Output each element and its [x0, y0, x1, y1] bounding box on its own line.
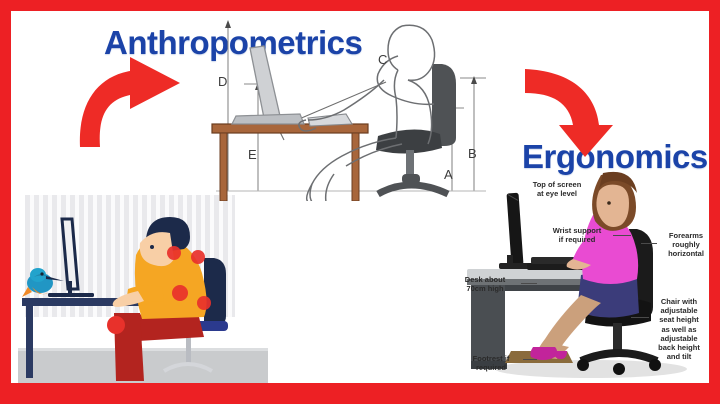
kingfisher-bird-icon: [22, 268, 64, 297]
illustration-ergonomic-workstation: Top of screen at eye level Wrist support…: [441, 171, 709, 383]
leader-forearm: [641, 243, 657, 244]
dimension-label-D: D: [218, 74, 227, 89]
leader-chair: [631, 317, 649, 318]
curved-arrow-down-icon: [519, 63, 631, 164]
monitor-mid: [232, 46, 304, 124]
callout-forearms: Forearms roughly horizontal: [660, 231, 709, 259]
dimension-label-C: C: [378, 52, 387, 67]
poor-posture-figure: [18, 195, 268, 383]
desk-mid: [212, 124, 368, 201]
callout-chair-adjustable: Chair with adjustable seat height as wel…: [651, 297, 707, 361]
poster-root: Anthropometrics Ergonomics: [0, 0, 720, 404]
callout-top-of-screen: Top of screen at eye level: [515, 180, 599, 198]
monitor-right: [499, 193, 533, 269]
monitor-left: [48, 219, 94, 297]
poster-canvas: Anthropometrics Ergonomics: [11, 11, 709, 383]
illustration-poor-posture: [18, 195, 268, 383]
curved-arrow-up-right-icon: [68, 53, 193, 154]
dimension-label-E: E: [248, 147, 257, 162]
callout-footrest: Footrest if required: [459, 354, 523, 372]
callout-wrist-support: Wrist support if required: [541, 226, 613, 244]
leader-footrest: [523, 359, 537, 360]
callout-desk-height: Desk about 70cm high: [449, 275, 521, 293]
dimension-label-B: B: [468, 146, 477, 161]
leader-wrist: [613, 235, 631, 236]
leader-desk: [521, 283, 537, 284]
